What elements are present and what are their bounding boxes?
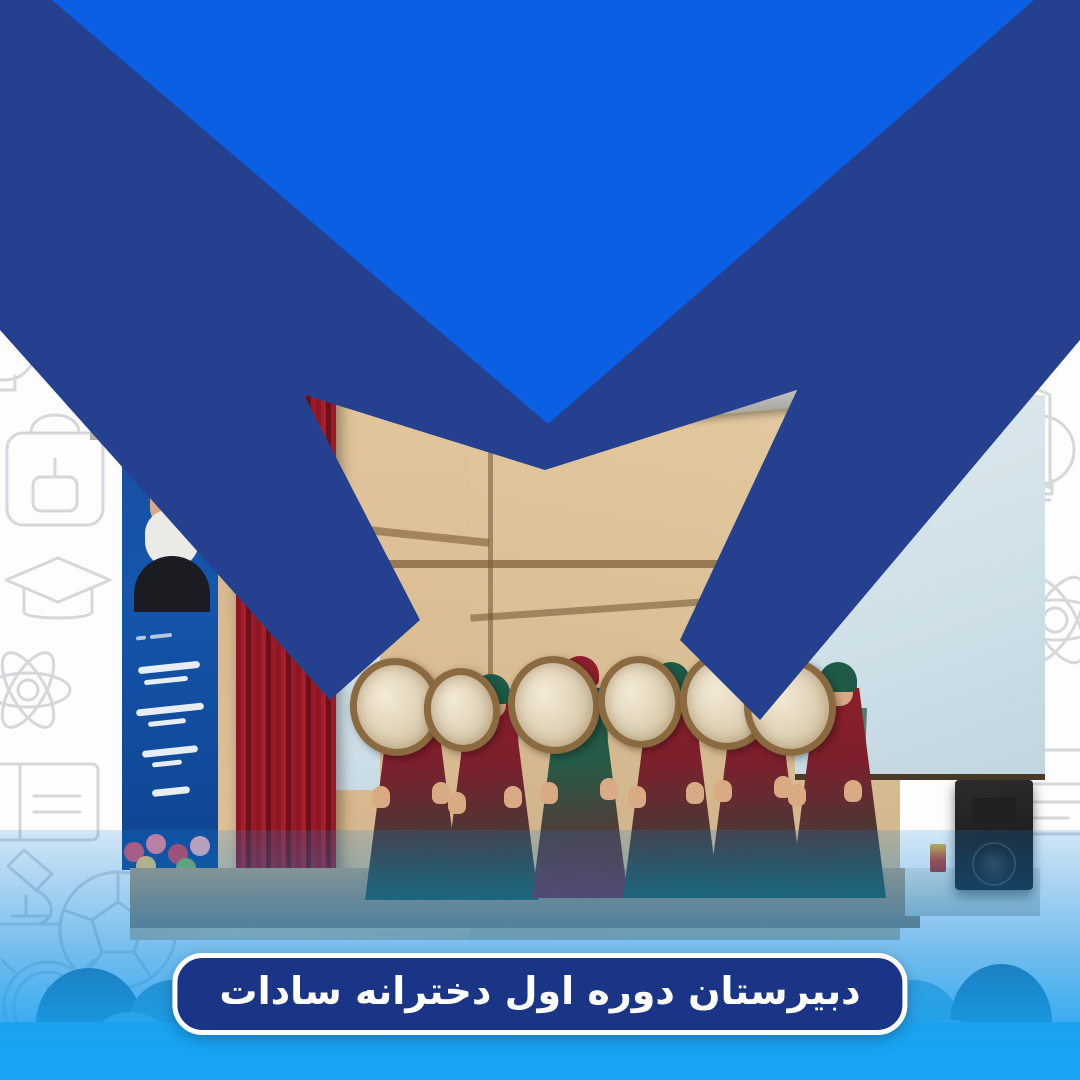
caption: دبیرستان دوره اول دخترانه سادات [172,953,907,1035]
poster-canvas: دبیرستان دوره اول دخترانه سادات [0,0,1080,1080]
caption-pill: دبیرستان دوره اول دخترانه سادات [172,953,907,1035]
school-name-text: دبیرستان دوره اول دخترانه سادات [219,971,860,1013]
banner-calligraphy [128,630,212,810]
